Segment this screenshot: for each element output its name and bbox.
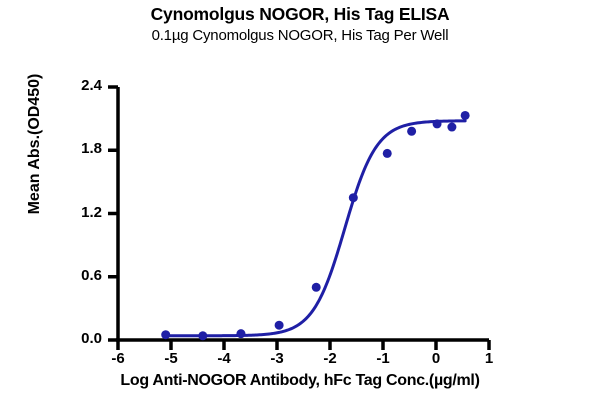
x-axis-tick-label: -1 [358,350,408,367]
data-point-marker [275,321,284,330]
data-point-marker [433,119,442,128]
data-point-marker [407,127,416,136]
data-point-marker [236,329,245,338]
data-point-marker [461,111,470,120]
data-point-marker [447,123,456,132]
x-axis-title: Log Anti-NOGOR Antibody, hFc Tag Conc.(µ… [40,372,560,390]
y-axis-tick-label: 1.2 [46,204,102,221]
y-axis-tick-label: 2.4 [46,77,102,94]
elisa-chart-figure: Cynomolgus NOGOR, His Tag ELISA 0.1µg Cy… [0,0,600,400]
x-axis-tick-label: 0 [411,350,461,367]
y-axis-tick-label: 0.6 [46,267,102,284]
data-point-marker [198,331,207,340]
y-axis-title: Mean Abs.(OD450) [26,44,44,244]
x-axis-tick-label: -5 [146,350,196,367]
data-point-marker [349,193,358,202]
data-point-marker [383,149,392,158]
x-axis-tick-label: -6 [93,350,143,367]
x-axis-tick-label: -2 [305,350,355,367]
sigmoid-fit-curve [166,121,465,336]
x-axis-tick-label: -4 [199,350,249,367]
data-point-marker [312,283,321,292]
data-point-marker [161,330,170,339]
x-axis-tick-label: -3 [252,350,302,367]
y-axis-tick-label: 1.8 [46,140,102,157]
y-axis-tick-label: 0.0 [46,330,102,347]
x-axis-tick-label: 1 [464,350,514,367]
